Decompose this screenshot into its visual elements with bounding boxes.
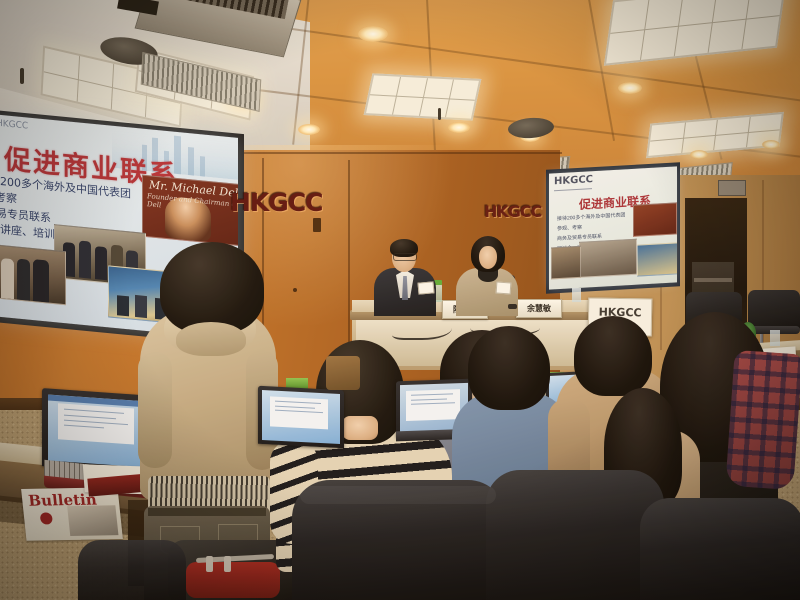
av-equipment-shelf (694, 278, 732, 282)
ceiling-downlight (448, 122, 470, 133)
speaker-female-face-front (479, 246, 497, 269)
magazine-cover-photo (67, 505, 118, 536)
wall-panel-seam (232, 152, 562, 154)
side-screen-photo-dell (633, 202, 677, 236)
attendee-striped-neck (342, 416, 378, 440)
sprinkler-head (20, 68, 24, 84)
laptop-document (58, 403, 134, 444)
magazine[interactable]: Bulletin (21, 487, 123, 540)
speaker-male-name-badge (418, 281, 435, 294)
laptop-screen-center[interactable] (262, 390, 340, 444)
foreground-chair-highlight (300, 486, 496, 504)
hkgcc-wall-sign: HKGCC (230, 188, 323, 217)
ceiling-downlight (690, 150, 708, 159)
side-screen-photo-panel (637, 242, 677, 276)
side-chair[interactable] (78, 540, 186, 600)
attendee-standing-sleeve (138, 352, 172, 468)
microphone-cable (392, 316, 452, 340)
foreground-chair-back[interactable] (486, 470, 664, 600)
laptop-screen-red[interactable] (48, 395, 148, 468)
slide-logo: HKGCC (0, 119, 22, 138)
wooden-chair[interactable] (326, 356, 360, 390)
speaker-female-watch (508, 304, 517, 309)
attendee-tan-hair (574, 316, 652, 396)
plaid-jacket-on-chair (725, 350, 800, 490)
attendee-blue-hair (468, 326, 550, 410)
attendee-standing-hood-inner (176, 322, 246, 356)
wall-keyhole (293, 288, 297, 292)
side-screen: HKGCC 促进商业联系 接待200多个海外及中国代表团 参观、考察 商务及贸易… (549, 166, 677, 289)
side-screen-photo-group (579, 239, 637, 278)
slide-photo-group-left (0, 243, 66, 305)
wall-keyhole (313, 218, 321, 232)
side-screen-bullet: 接待200多个海外及中国代表团 (557, 211, 625, 222)
side-screen-photo-left (551, 246, 581, 280)
slide-skyline-bar (188, 147, 194, 176)
ceiling-downlight (358, 26, 388, 42)
drinking-glass (770, 330, 780, 346)
sprinkler-head (438, 108, 441, 120)
wall-mounted-speaker (718, 180, 746, 196)
backpack-red-panel (186, 562, 280, 598)
backpack-zipper-pull (206, 556, 213, 572)
foreground-chair-back[interactable] (640, 498, 800, 600)
side-screen-bullet: 参观、考察 (557, 224, 582, 232)
drinking-glass (572, 288, 581, 302)
magazine-cover-dot (40, 512, 53, 524)
hkgcc-wall-sign-secondary-text: HKGCC (484, 202, 541, 221)
backpack-zipper-pull (224, 556, 231, 572)
nameplate-right-text: 余慧敏 (527, 303, 551, 314)
laptop-document (270, 396, 328, 429)
ceiling-downlight (298, 124, 320, 135)
ceiling-downlight (762, 140, 780, 149)
laptop-document (406, 389, 460, 421)
attendee-standing-hair (160, 242, 264, 334)
side-screen-logo: HKGCC (554, 174, 593, 187)
ceiling-downlight (618, 82, 642, 94)
slide-skyline-bar (200, 156, 205, 176)
side-screen-rule (554, 188, 592, 191)
hkgcc-wall-sign-secondary: HKGCC (484, 202, 541, 221)
hkgcc-wall-sign-text: HKGCC (230, 188, 323, 217)
ceiling-light-panel (364, 73, 482, 120)
speaker-male-glasses (393, 253, 417, 261)
speaker-female-name-badge (496, 281, 512, 294)
attendee-standing-belt (148, 508, 266, 516)
conference-room-photo: HKGCC 促进商业联系 接待200多个海外及中国代表团 参观、考察 商务及贸易… (0, 0, 800, 600)
slide-photo-dell: Mr. Michael Dell Founder and Chairman of… (142, 175, 238, 247)
